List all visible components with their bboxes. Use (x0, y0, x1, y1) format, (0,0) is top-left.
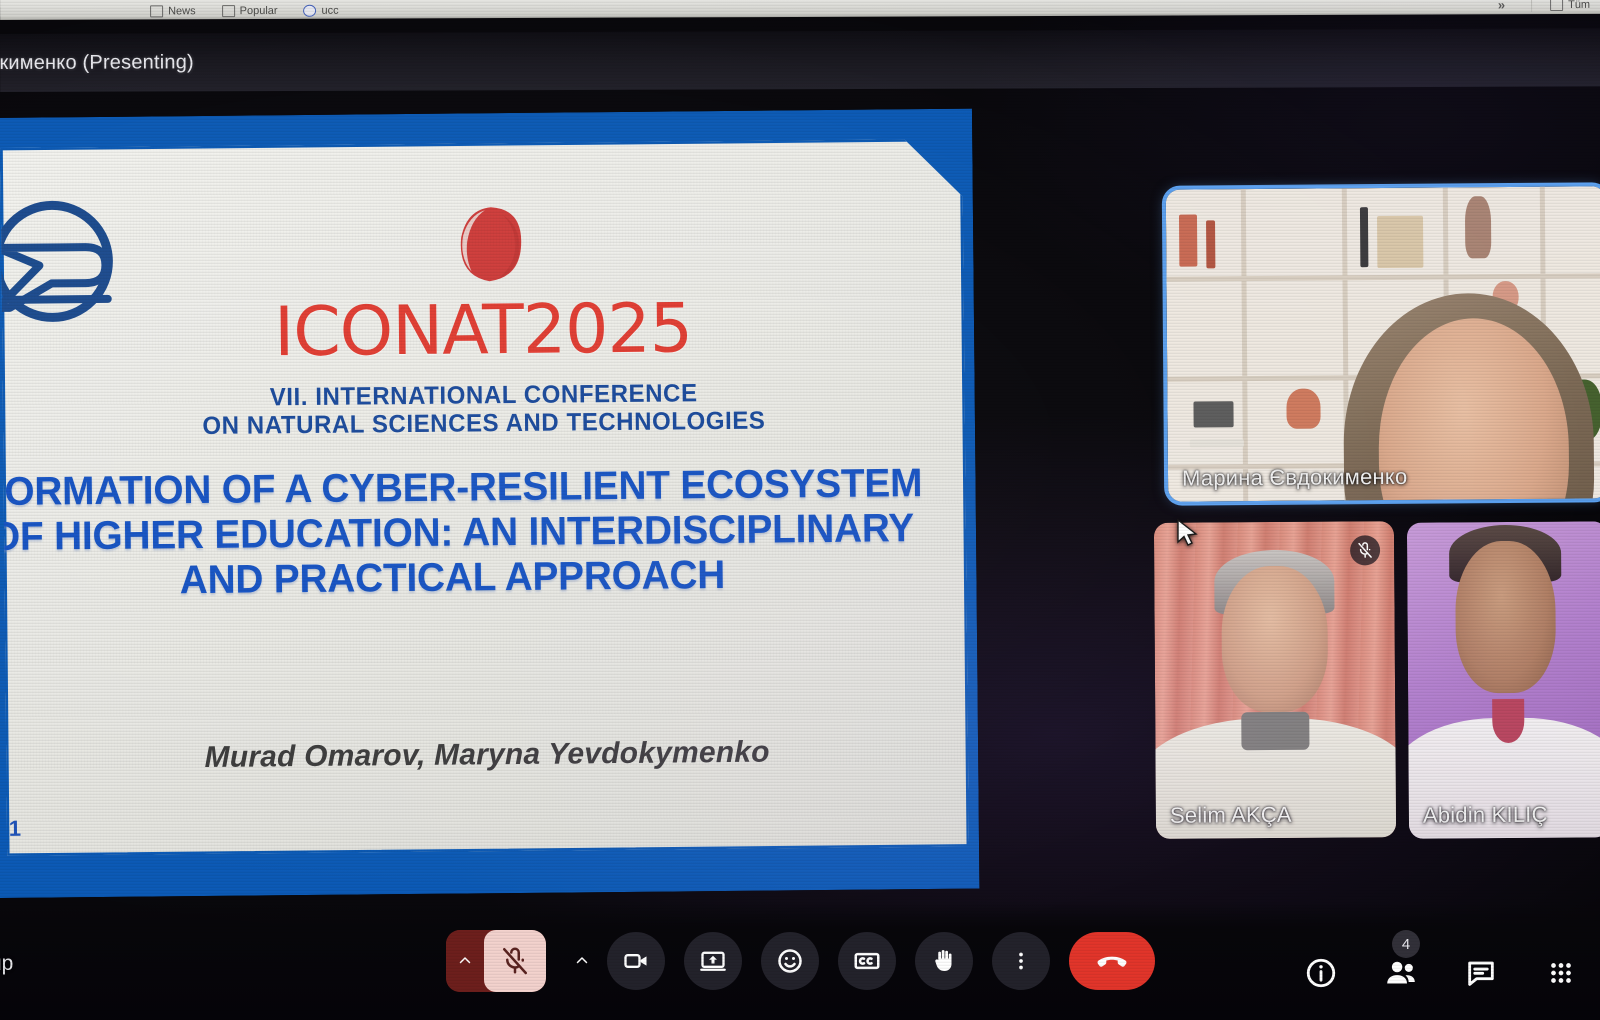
bookmark-folder-icon (150, 5, 163, 17)
present-screen-icon (699, 947, 727, 975)
bookmark-folder-icon (222, 5, 235, 17)
people-button[interactable]: 4 (1380, 952, 1422, 994)
mic-options-chevron-icon[interactable] (446, 930, 484, 992)
activities-button[interactable] (1540, 952, 1582, 994)
meeting-details-button[interactable] (1300, 952, 1342, 994)
bookmark-folder-icon (1550, 0, 1563, 11)
virtual-background-bookshelf (1166, 186, 1600, 501)
emoji-smiley-icon (775, 946, 805, 976)
microphone-control-group[interactable] (446, 930, 546, 992)
participant-muted-icon (1350, 535, 1380, 565)
raised-hand-icon (929, 946, 959, 976)
tab-overflow-label: Tüm (1568, 0, 1590, 11)
mouse-cursor (1175, 518, 1201, 550)
bookmarks-overflow-button[interactable]: » (1498, 0, 1505, 12)
people-icon (1383, 955, 1419, 991)
bookmark-label: News (168, 5, 196, 17)
paper-title: FORMATION OF A CYBER-RESILIENT ECOSYSTEM… (0, 461, 928, 605)
more-vertical-icon (1008, 948, 1034, 974)
camera-options-chevron-icon[interactable] (565, 932, 599, 990)
participant-collar (1242, 711, 1309, 749)
participant-face (1455, 541, 1556, 693)
presenter-name-label: окименко (Presenting) (0, 51, 194, 75)
participant-name-label: Марина Євдокименко (1182, 464, 1407, 492)
bookmark-item[interactable]: News (150, 5, 196, 17)
info-circle-icon (1304, 956, 1338, 990)
bookmark-globe-icon (304, 5, 317, 17)
participant-name-label: Abidin KILIÇ (1423, 802, 1548, 829)
end-call-icon (1093, 942, 1131, 980)
participant-tile-top[interactable]: Марина Євдокименко (1166, 186, 1600, 501)
more-options-button[interactable] (992, 932, 1050, 990)
bookmark-item[interactable]: ucc (304, 5, 339, 17)
bookmark-label: Popular (240, 5, 278, 17)
participant-tile-bottom-right[interactable]: Abidin KILIÇ (1407, 521, 1600, 838)
tab-overflow-item[interactable]: Tüm (1531, 0, 1590, 12)
chat-bubble-icon (1464, 956, 1498, 990)
participant-name-label: Selim AKÇA (1170, 802, 1292, 829)
participant-face (1221, 566, 1328, 712)
monitor-photo-screen: News Popular ucc » Tüm окименко (Present… (0, 0, 1600, 1020)
bookmark-item[interactable]: Popular (222, 5, 278, 17)
participant-tile-bottom-left[interactable]: Selim AKÇA (1154, 521, 1396, 839)
conference-name: ICONAT2025 (2, 287, 965, 375)
camera-icon (622, 947, 650, 975)
bookmark-label: ucc (322, 5, 339, 17)
slide-number: 1 (9, 816, 21, 842)
people-count-badge: 4 (1392, 930, 1420, 958)
meeting-name-label: up (0, 952, 13, 976)
reactions-button[interactable] (761, 932, 819, 990)
camera-control-group[interactable] (565, 932, 665, 990)
present-screen-button[interactable] (684, 932, 742, 990)
presenting-banner: окименко (Presenting) (0, 28, 1600, 92)
red-tulip-brushstroke-icon (441, 201, 534, 288)
paper-authors: Murad Omarov, Maryna Yevdokymenko (6, 734, 968, 777)
shared-presentation-slide[interactable]: ICONAT2025 VII. INTERNATIONAL CONFERENCE… (0, 109, 979, 898)
microphone-off-icon (500, 946, 530, 976)
meeting-right-controls: 4 (1300, 952, 1582, 994)
end-call-button[interactable] (1069, 932, 1155, 990)
browser-bookmarks-bar: News Popular ucc » Tüm (0, 0, 1600, 20)
raise-hand-button[interactable] (915, 932, 973, 990)
conference-subtitle: VII. INTERNATIONAL CONFERENCE ON NATURAL… (22, 377, 946, 442)
camera-button[interactable] (607, 932, 665, 990)
grid-apps-icon (1546, 958, 1576, 988)
microphone-off-button[interactable] (484, 930, 546, 992)
closed-captions-icon (852, 946, 882, 976)
slide-canvas: ICONAT2025 VII. INTERNATIONAL CONFERENCE… (0, 139, 969, 856)
chat-button[interactable] (1460, 952, 1502, 994)
captions-button[interactable] (838, 932, 896, 990)
